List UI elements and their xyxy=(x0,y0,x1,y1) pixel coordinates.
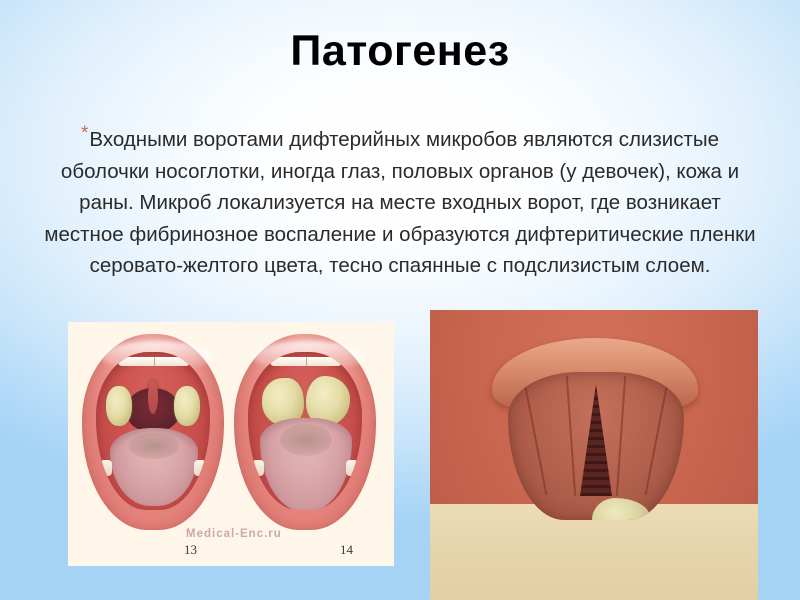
uvula xyxy=(148,380,158,414)
oral-cavity xyxy=(96,352,210,510)
figure-number-13: 13 xyxy=(184,542,197,558)
lower-teeth-left xyxy=(100,460,112,476)
figure-number-14: 14 xyxy=(340,542,353,558)
vocal-fold-line xyxy=(616,376,626,496)
tongue xyxy=(110,428,198,506)
diphtheritic-membrane-left xyxy=(106,386,132,426)
tongue xyxy=(260,418,352,510)
image-watermark: Medical-Enc.ru xyxy=(186,528,282,540)
glottis-opening xyxy=(580,384,612,496)
lower-teeth-right xyxy=(346,460,358,476)
page-title: Патогенез xyxy=(0,28,800,75)
body-text-block: *Входными воротами дифтерийных микробов … xyxy=(42,118,758,282)
upper-teeth xyxy=(118,357,190,366)
diphtheritic-film-left xyxy=(592,498,650,520)
throat-illustration-14 xyxy=(230,330,380,542)
lower-teeth-right xyxy=(194,460,206,476)
vocal-fold-line xyxy=(523,377,548,495)
oral-cavity xyxy=(248,352,362,510)
upper-teeth xyxy=(270,357,342,366)
vocal-fold-line xyxy=(566,376,576,496)
vocal-fold-line xyxy=(645,377,670,495)
throat-illustration-13 xyxy=(78,330,228,542)
larynx-photo xyxy=(430,310,758,600)
diphtheritic-film-right xyxy=(670,492,684,520)
laryngeal-vestibule xyxy=(508,372,684,520)
body-paragraph: Входными воротами дифтерийных микробов я… xyxy=(44,128,755,277)
diphtheritic-membrane-right xyxy=(174,386,200,426)
asterisk-bullet-icon: * xyxy=(81,123,88,144)
presentation-slide: Патогенез *Входными воротами дифтерийных… xyxy=(0,0,800,600)
lower-teeth-left xyxy=(252,460,264,476)
throat-illustration-plate: Medical-Enc.ru 13 14 xyxy=(68,322,394,566)
